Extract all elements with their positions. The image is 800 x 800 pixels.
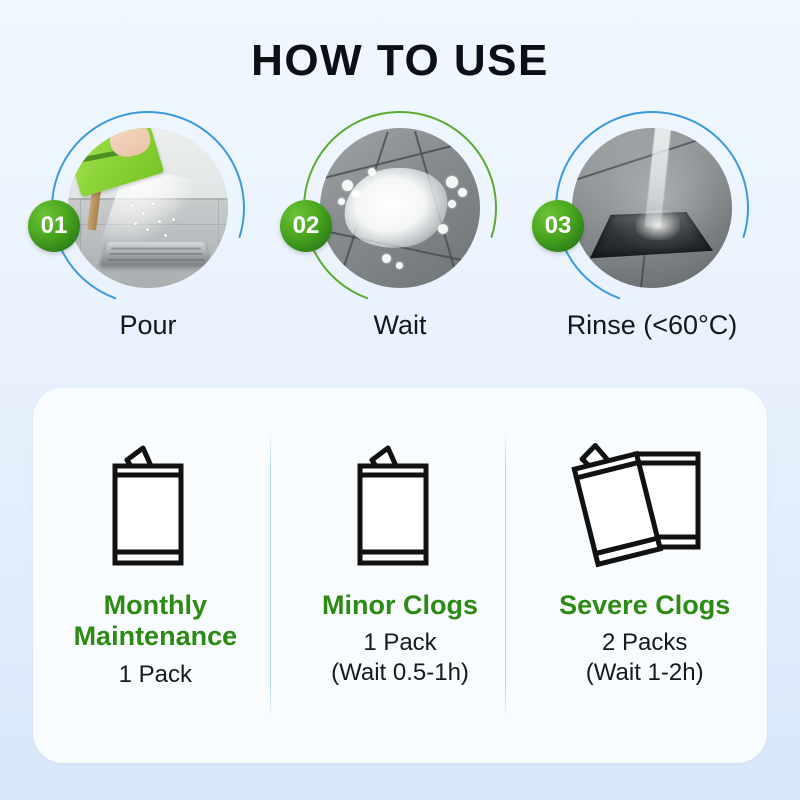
step-03-ring-wrap xyxy=(556,112,748,304)
step-02-ring-wrap xyxy=(304,112,496,304)
single-sachet-icon xyxy=(348,430,452,590)
how-to-use-infographic: HOW TO USE xyxy=(0,0,800,800)
step-01-ring-wrap xyxy=(52,112,244,304)
step-label-01: Pour xyxy=(22,310,274,341)
dosage-title-1-line2: Maintenance xyxy=(74,621,238,651)
step-label-03: Rinse (<60°C) xyxy=(526,310,778,341)
step-item-03: 03 Rinse (<60°C) xyxy=(526,112,778,362)
steps-row: 01 Pour xyxy=(0,112,800,362)
dosage-sub-1: 1 Pack xyxy=(119,660,192,689)
step-number-badge-03: 03 xyxy=(532,200,584,252)
dosage-card: Monthly Maintenance 1 Pack xyxy=(33,388,767,763)
dosage-amount-2: 1 Pack xyxy=(363,629,436,656)
page-title: HOW TO USE xyxy=(0,36,800,86)
dosage-wait-2: (Wait 0.5-1h) xyxy=(331,658,469,687)
step-02-photo xyxy=(320,128,480,288)
double-sachet-icon xyxy=(570,430,720,590)
step-number-badge-01: 01 xyxy=(28,200,80,252)
step-item-01: 01 Pour xyxy=(22,112,274,362)
floor-drain-grate xyxy=(99,242,212,266)
dosage-amount-3: 2 Packs xyxy=(602,629,687,656)
dosage-title-3: Severe Clogs xyxy=(559,590,730,621)
dosage-title-2-line1: Minor Clogs xyxy=(322,590,478,620)
step-03-photo xyxy=(572,128,732,288)
dosage-sub-2: 1 Pack (Wait 0.5-1h) xyxy=(331,628,469,687)
dosage-column-minor-clogs: Minor Clogs 1 Pack (Wait 0.5-1h) xyxy=(278,388,523,763)
single-sachet-icon xyxy=(103,430,207,590)
dosage-title-1: Monthly Maintenance xyxy=(74,590,238,653)
dosage-sub-3: 2 Packs (Wait 1-2h) xyxy=(586,628,704,687)
dosage-wait-3: (Wait 1-2h) xyxy=(586,658,704,687)
step-number-badge-02: 02 xyxy=(280,200,332,252)
dosage-amount-1: 1 Pack xyxy=(119,661,192,688)
step-label-02: Wait xyxy=(274,310,526,341)
dosage-column-monthly-maintenance: Monthly Maintenance 1 Pack xyxy=(33,388,278,763)
dosage-title-1-line1: Monthly xyxy=(104,590,207,620)
dosage-title-3-line1: Severe Clogs xyxy=(559,590,730,620)
dosage-title-2: Minor Clogs xyxy=(322,590,478,621)
step-01-photo xyxy=(68,128,228,288)
dosage-column-severe-clogs: Severe Clogs 2 Packs (Wait 1-2h) xyxy=(522,388,767,763)
step-item-02: 02 Wait xyxy=(274,112,526,362)
